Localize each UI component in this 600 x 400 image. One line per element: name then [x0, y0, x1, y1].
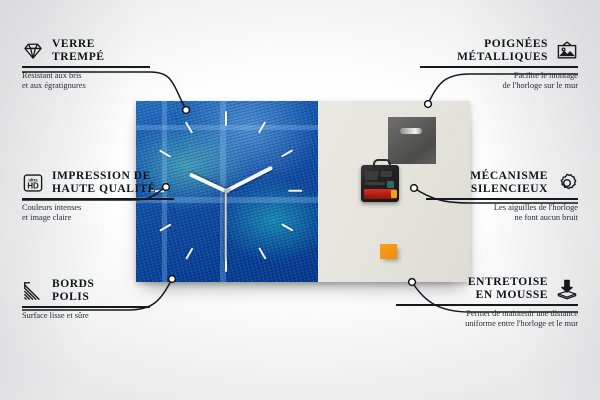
callout-header: VERRE TREMPÉ	[22, 38, 212, 63]
callout-header: ENTRETOISE EN MOUSSE	[368, 276, 578, 301]
svg-text:HD: HD	[27, 181, 39, 190]
callout-rule	[396, 304, 578, 306]
callout-header: POIGNÉES MÉTALLIQUES	[388, 38, 578, 63]
callout-title: BORDS POLIS	[52, 278, 94, 303]
infographic-canvas: VERRE TREMPÉ Résistant aux bris et aux é…	[0, 0, 600, 400]
clock-tick	[281, 223, 293, 232]
callout-header: ultra HD IMPRESSION DE HAUTE QUALITÉ	[22, 170, 212, 195]
callout-subtitle: Les aiguilles de l'horloge ne font aucun…	[388, 203, 578, 223]
polished-edges-icon	[22, 280, 44, 302]
callout-header: MÉCANISME SILENCIEUX	[388, 170, 578, 195]
clock-tick	[288, 190, 302, 192]
clock-minute-hand	[225, 166, 273, 193]
callout-verre-trempe: VERRE TREMPÉ Résistant aux bris et aux é…	[22, 38, 212, 91]
movement-detail	[365, 182, 385, 185]
callout-subtitle: Facilite le montage de l'horloge sur le …	[388, 71, 578, 91]
callout-entretoise-en-mousse: ENTRETOISE EN MOUSSE Permet de maintenir…	[368, 276, 578, 329]
callout-rule	[420, 66, 578, 68]
clock-tick	[281, 149, 293, 158]
movement-detail	[365, 171, 378, 180]
callout-subtitle: Permet de maintenir une distance uniform…	[368, 309, 578, 329]
movement-hook	[373, 159, 391, 169]
press-down-pad-icon	[556, 278, 578, 300]
ultra-hd-icon: ultra HD	[22, 172, 44, 194]
callout-subtitle: Surface lisse et sûre	[22, 311, 212, 321]
diamond-icon	[22, 40, 44, 62]
callout-header: BORDS POLIS	[22, 278, 212, 303]
callout-impression-hd: ultra HD IMPRESSION DE HAUTE QUALITÉ Cou…	[22, 170, 212, 223]
clock-tick	[258, 247, 267, 259]
callout-subtitle: Résistant aux bris et aux égratignures	[22, 71, 212, 91]
metal-hanger-plate	[388, 117, 436, 164]
callout-bords-polis: BORDS POLIS Surface lisse et sûre	[22, 278, 212, 321]
callout-title: VERRE TREMPÉ	[52, 38, 105, 63]
callout-title: ENTRETOISE EN MOUSSE	[468, 276, 548, 301]
callout-rule	[22, 198, 174, 200]
hanger-slot	[400, 128, 422, 134]
callout-poignees-metalliques: POIGNÉES MÉTALLIQUES Facilite le montage…	[388, 38, 578, 91]
clock-hand-cap	[225, 188, 230, 193]
callout-rule	[22, 66, 150, 68]
clock-tick	[185, 247, 194, 259]
clock-tick	[225, 111, 227, 126]
callout-title: IMPRESSION DE HAUTE QUALITÉ	[52, 170, 156, 195]
callout-rule	[426, 198, 578, 200]
callout-title: POIGNÉES MÉTALLIQUES	[457, 38, 548, 63]
foam-spacer	[380, 244, 397, 259]
callout-mecanisme-silencieux: MÉCANISME SILENCIEUX Les aiguilles de l'…	[388, 170, 578, 223]
callout-rule	[22, 306, 150, 308]
callout-title: MÉCANISME SILENCIEUX	[470, 170, 548, 195]
callout-subtitle: Couleurs intenses et image claire	[22, 203, 212, 223]
picture-frame-hanger-icon	[556, 40, 578, 62]
gear-icon	[556, 172, 578, 194]
clock-second-hand	[225, 191, 227, 261]
